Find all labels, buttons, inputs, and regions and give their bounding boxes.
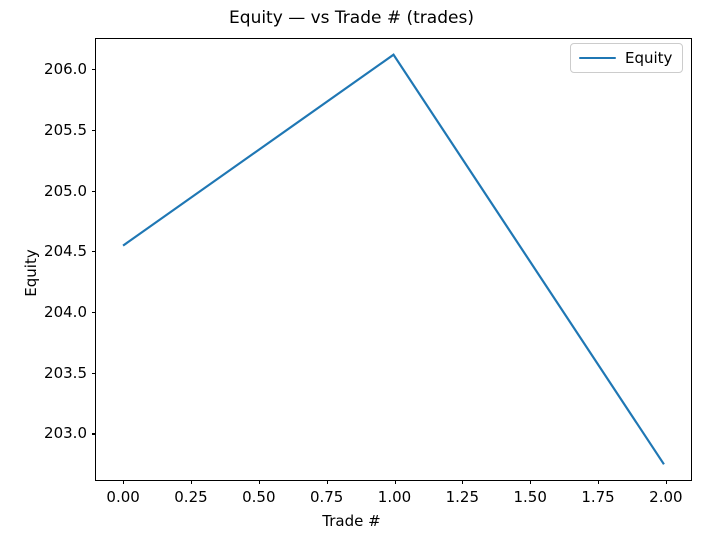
x-tick-label: 0.50	[242, 488, 275, 506]
y-tick-mark	[92, 191, 96, 192]
x-tick-mark	[327, 480, 328, 484]
x-tick-mark	[462, 480, 463, 484]
legend-label-equity: Equity	[625, 49, 672, 67]
y-tick-label: 204.5	[44, 242, 87, 260]
x-tick-mark	[530, 480, 531, 484]
x-tick-mark	[395, 480, 396, 484]
x-tick-mark	[259, 480, 260, 484]
data-series-canvas	[96, 39, 691, 480]
x-tick-label: 2.00	[649, 488, 682, 506]
x-tick-label: 1.00	[378, 488, 411, 506]
plot-area: 203.0203.5204.0204.5205.0205.5206.00.000…	[95, 38, 692, 481]
x-tick-mark	[666, 480, 667, 484]
x-tick-mark	[598, 480, 599, 484]
x-tick-label: 0.25	[174, 488, 207, 506]
y-tick-label: 206.0	[44, 60, 87, 78]
y-tick-mark	[92, 130, 96, 131]
x-tick-mark	[123, 480, 124, 484]
equity-line-series	[123, 55, 664, 465]
y-tick-mark	[92, 251, 96, 252]
chart-figure: Equity — vs Trade # (trades) Equity 203.…	[0, 0, 703, 546]
y-tick-label: 204.0	[44, 303, 87, 321]
chart-title: Equity — vs Trade # (trades)	[0, 8, 703, 28]
x-tick-label: 1.75	[581, 488, 614, 506]
y-tick-label: 205.0	[44, 182, 87, 200]
x-tick-label: 1.50	[513, 488, 546, 506]
y-tick-mark	[92, 312, 96, 313]
legend: Equity	[570, 43, 683, 73]
y-axis-label-container: Equity	[0, 0, 24, 546]
y-axis-label: Equity	[20, 0, 42, 546]
y-tick-label: 203.5	[44, 364, 87, 382]
y-tick-label: 205.5	[44, 121, 87, 139]
y-tick-label: 203.0	[44, 424, 87, 442]
y-tick-mark	[92, 69, 96, 70]
x-axis-label: Trade #	[0, 512, 703, 530]
y-tick-mark	[92, 433, 96, 434]
legend-color-swatch-equity	[579, 57, 616, 59]
x-tick-label: 1.25	[446, 488, 479, 506]
x-tick-mark	[191, 480, 192, 484]
y-tick-mark	[92, 373, 96, 374]
x-tick-label: 0.00	[106, 488, 139, 506]
x-tick-label: 0.75	[310, 488, 343, 506]
